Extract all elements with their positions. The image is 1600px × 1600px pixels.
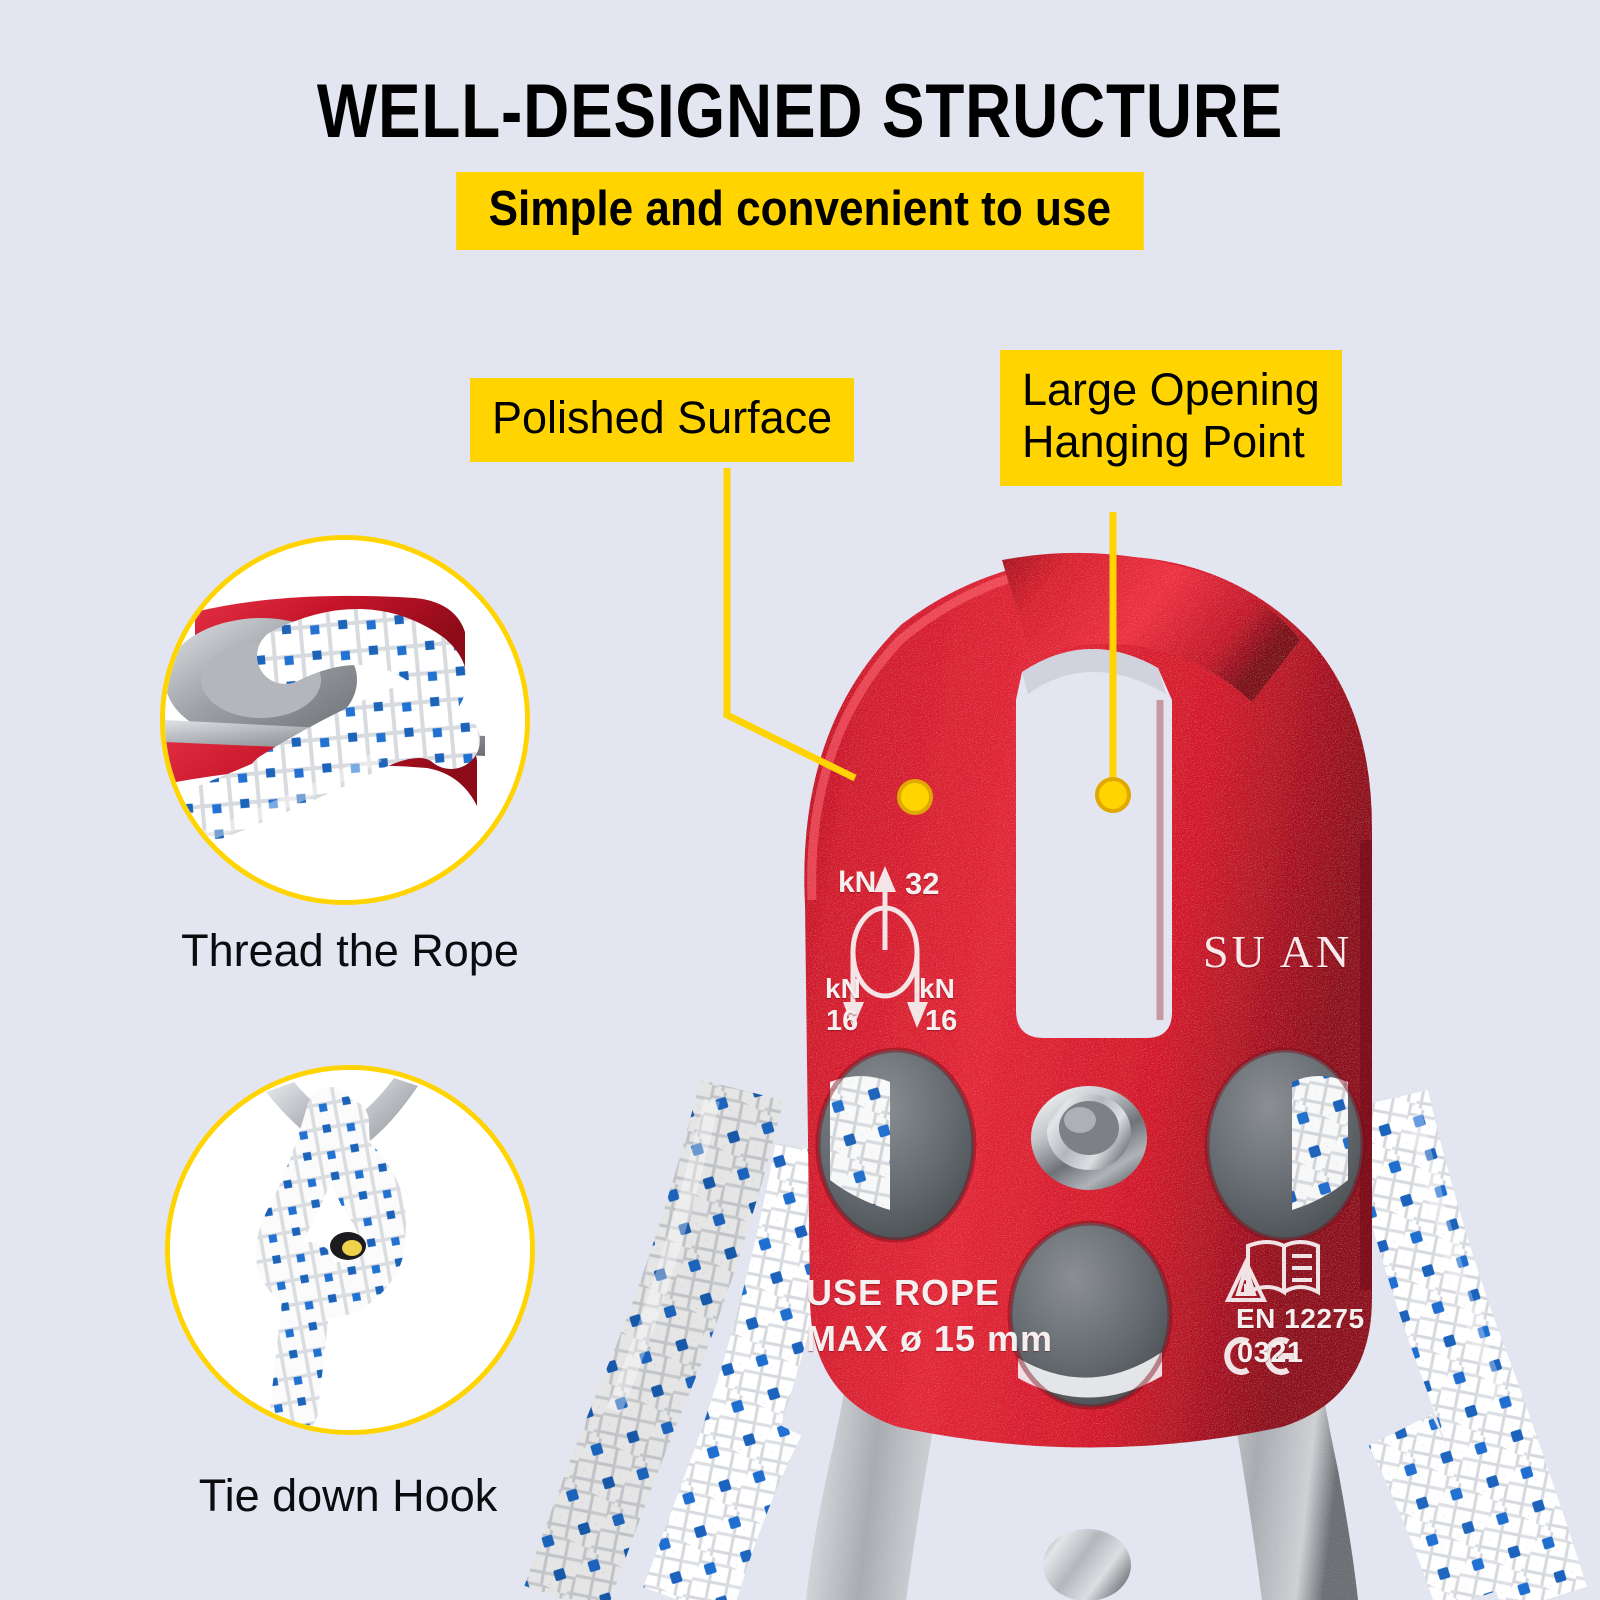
product-illustration	[0, 0, 1600, 1600]
engraving-kn-bottom-right-value: 16	[925, 1005, 957, 1038]
center-rivet	[1031, 1086, 1147, 1190]
engraving-max-diameter: MAX ø 15 mm	[806, 1318, 1053, 1360]
engraving-standard: EN 12275	[1236, 1303, 1365, 1335]
brand-name: SU AN	[1203, 925, 1352, 978]
engraving-kn-top-label: kN	[838, 866, 876, 900]
engraving-kn-top-value: 32	[905, 866, 939, 902]
engraving-ce-number: 0321	[1237, 1337, 1304, 1370]
engraving-use-rope: USE ROPE	[806, 1272, 1000, 1314]
engraving-kn-bottom-left-label: kN	[825, 973, 861, 1005]
hanging-point-opening	[1016, 649, 1172, 1038]
engraving-kn-bottom-left-value: 16	[826, 1005, 858, 1038]
engraving-kn-bottom-right-label: kN	[919, 973, 955, 1005]
infographic-page: WELL-DESIGNED STRUCTURE Simple and conve…	[0, 0, 1600, 1600]
